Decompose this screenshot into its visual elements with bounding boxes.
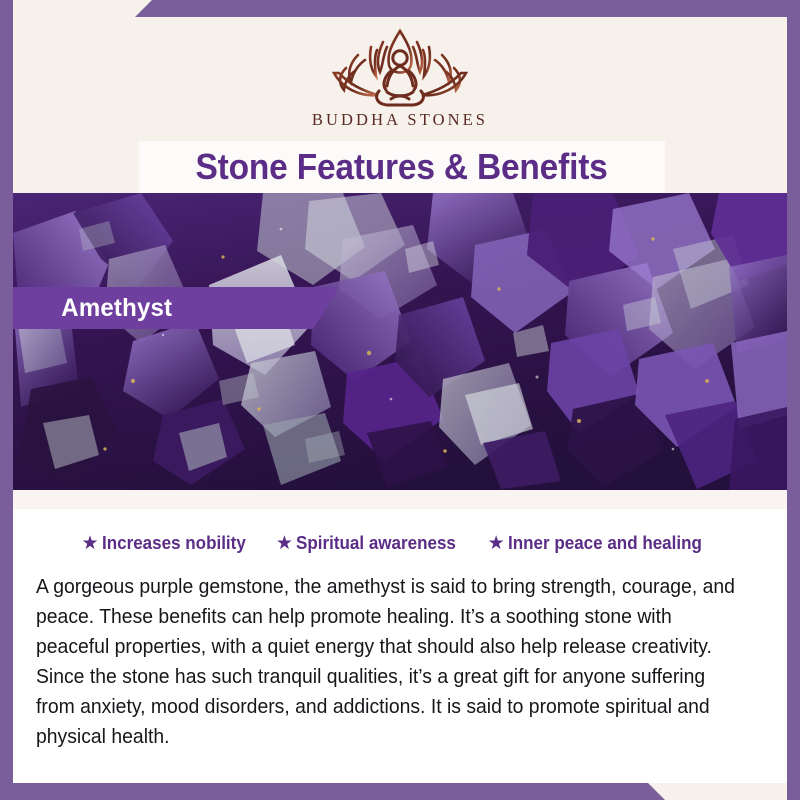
stone-info-card: BUDDHA STONES Stone Features & Benefits	[0, 0, 800, 800]
benefits-list: ★ Increases nobility ★ Spiritual awarene…	[13, 532, 787, 554]
star-icon: ★	[276, 534, 293, 553]
benefit-label: Inner peace and healing	[508, 532, 702, 554]
amethyst-crystal-cluster-photo	[13, 193, 787, 490]
star-icon: ★	[488, 534, 505, 553]
star-icon: ★	[82, 534, 99, 553]
brand-logo-area: BUDDHA STONES	[13, 17, 787, 141]
stone-name-banner: Amethyst	[13, 287, 339, 329]
frame-border-left	[0, 0, 13, 800]
frame-border-right	[787, 0, 800, 800]
title-banner: Stone Features & Benefits	[139, 141, 665, 193]
frame-border-bottom	[0, 783, 800, 800]
benefit-label: Spiritual awareness	[296, 532, 456, 554]
list-item: ★ Inner peace and healing	[488, 532, 719, 554]
page-title: Stone Features & Benefits	[196, 146, 608, 188]
description-section: ★ Increases nobility ★ Spiritual awarene…	[13, 490, 787, 783]
card-inner-panel: BUDDHA STONES Stone Features & Benefits	[13, 17, 787, 783]
list-item: ★ Spiritual awareness	[276, 532, 470, 554]
description-text: A gorgeous purple gemstone, the amethyst…	[36, 572, 735, 752]
frame-border-top	[0, 0, 800, 17]
lotus-meditation-figure-icon	[325, 25, 475, 109]
stone-name: Amethyst	[61, 294, 172, 323]
list-item: ★ Increases nobility	[82, 532, 258, 554]
benefit-label: Increases nobility	[102, 532, 246, 554]
brand-name: BUDDHA STONES	[312, 110, 488, 130]
